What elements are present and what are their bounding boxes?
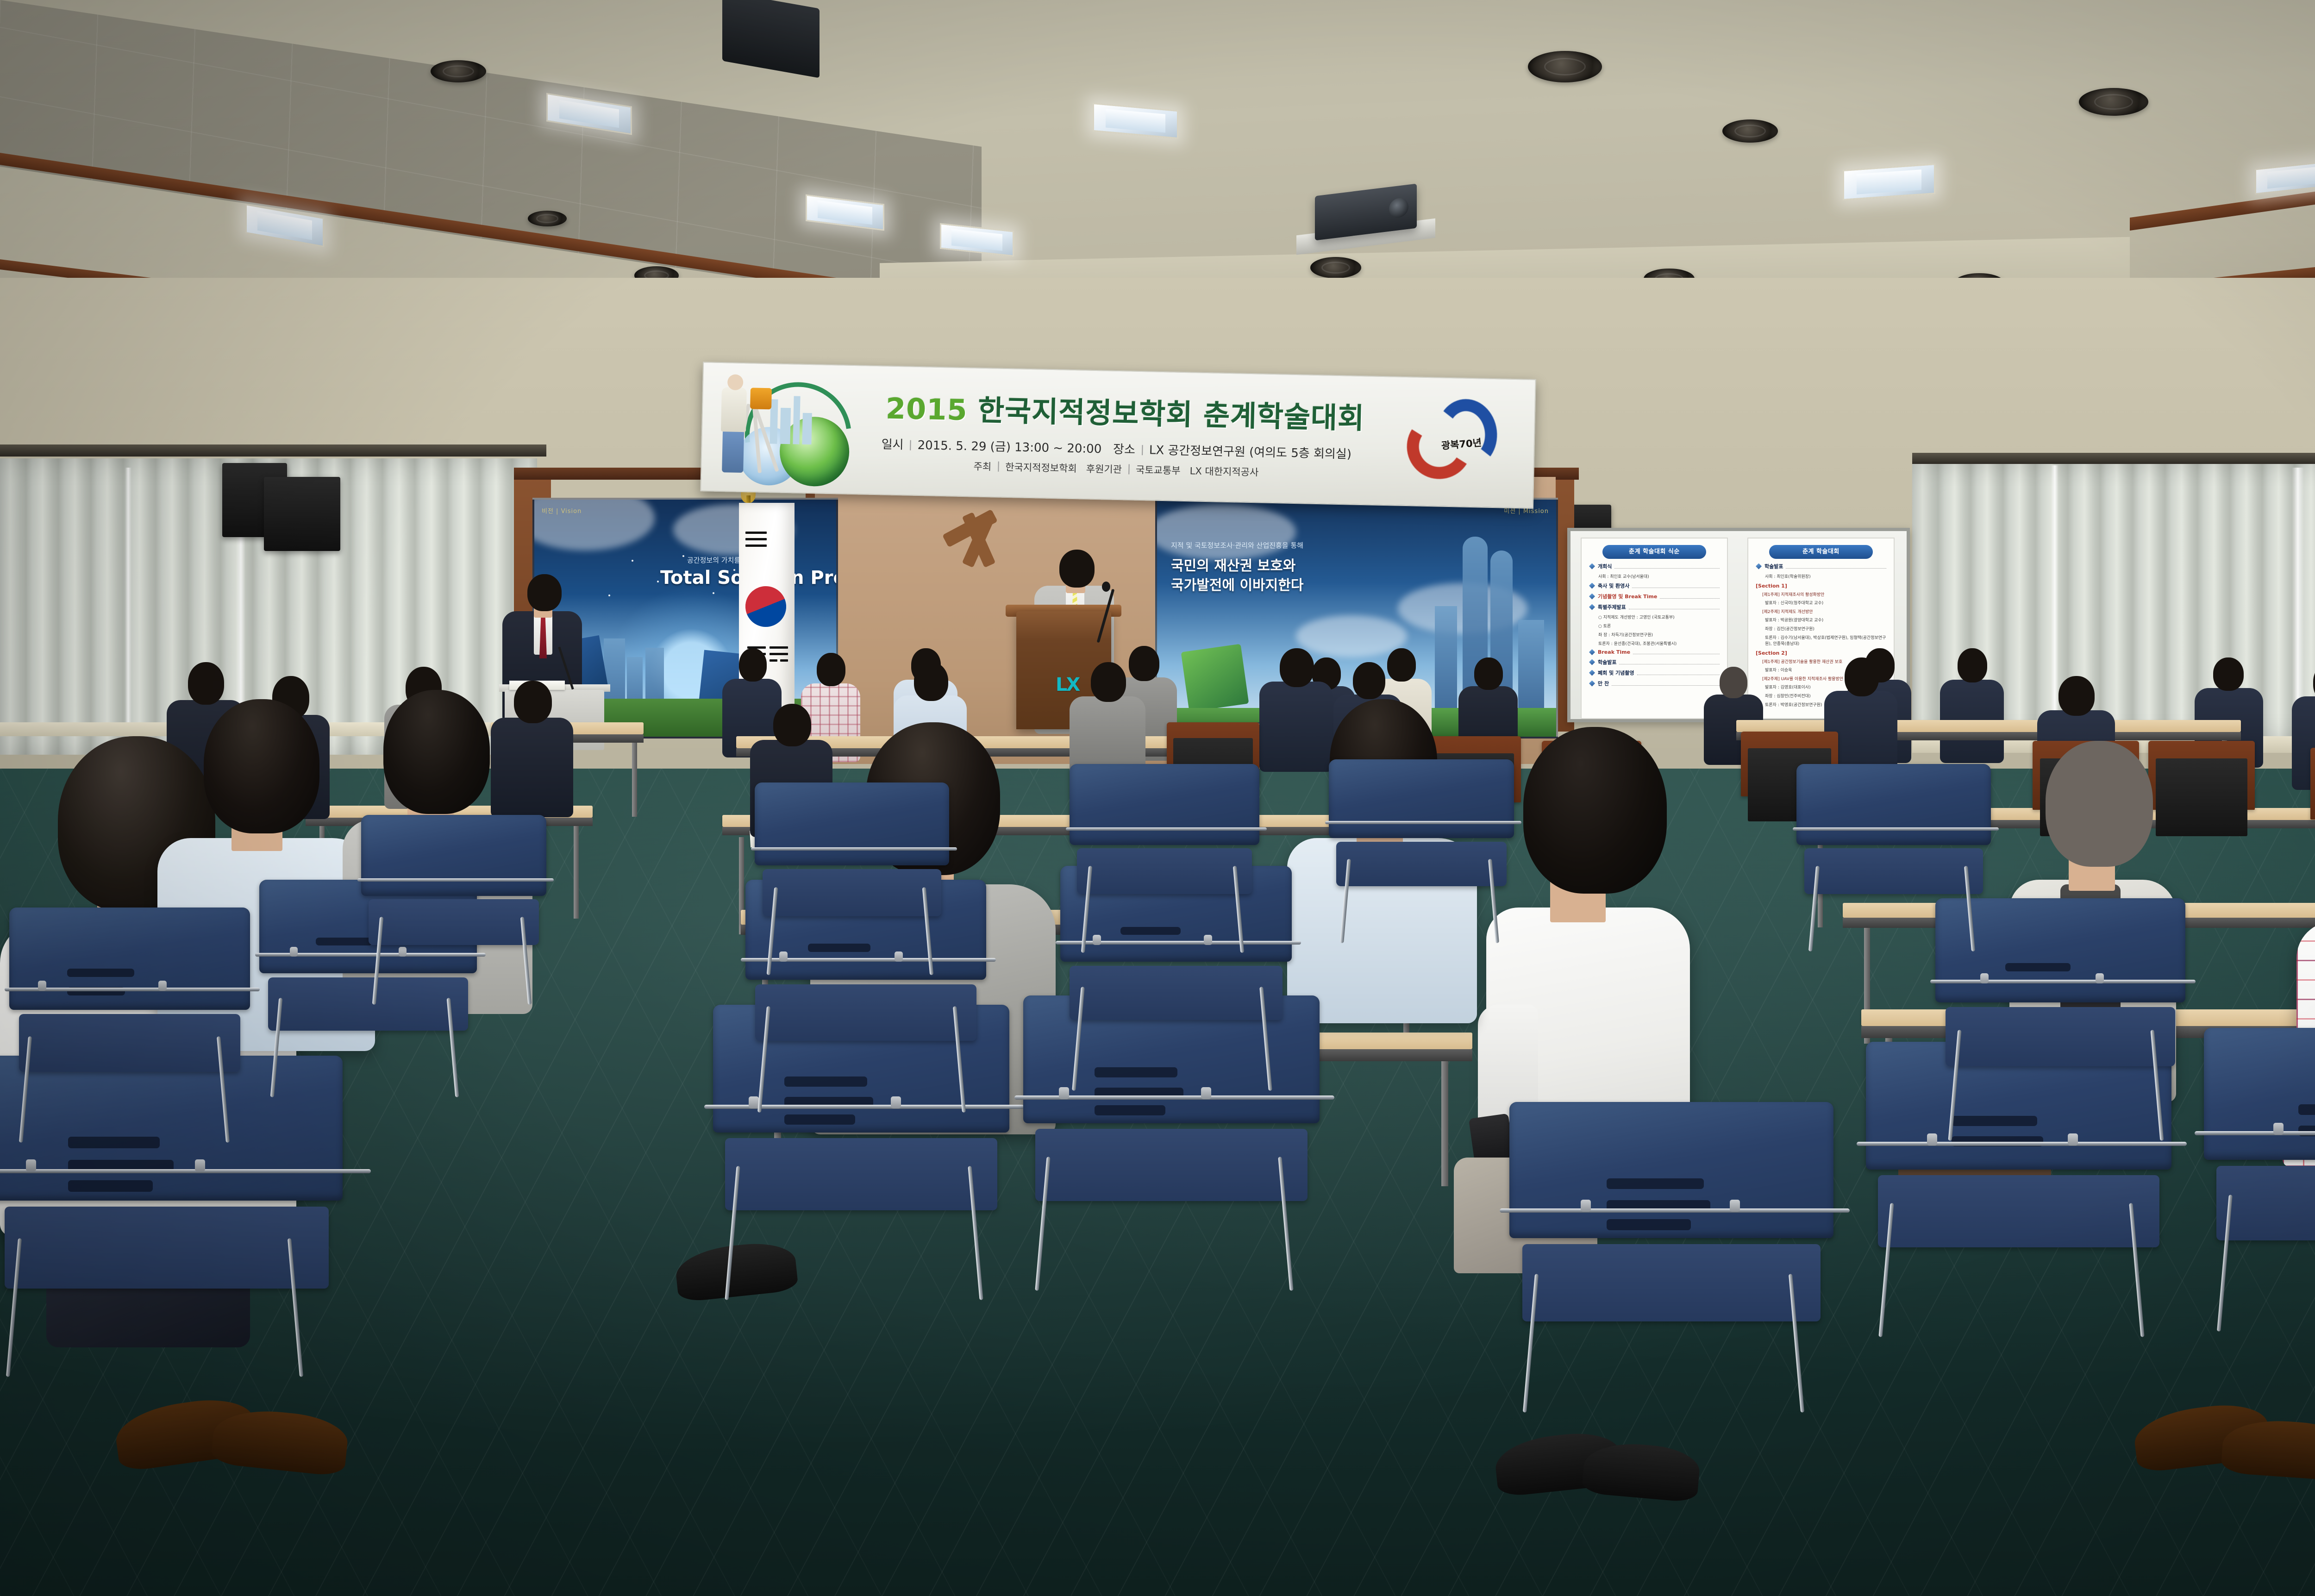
banner-liberation-emblem: 광복70년 (1395, 388, 1514, 496)
poster-item: 학술발표 (1756, 563, 1886, 570)
head (383, 690, 490, 814)
banner-date-value: 2015. 5. 29 (금) 13:00 ~ 20:00 (917, 438, 1101, 456)
banner-place-value: LX 공간정보연구원 (여의도 5층 회의실) (1149, 443, 1352, 461)
poster-topic: [제1주제] 지적재조사의 활성화방안 (1762, 591, 1886, 597)
chair[interactable] (1509, 1102, 1833, 1398)
poster-item: 기념촬영 및 Break Time (1589, 593, 1720, 600)
head (204, 699, 319, 833)
poster-note: 사회 : 최인호(학술위원장) (1765, 573, 1886, 579)
banner-sponsor-1: 국토교통부 (1136, 464, 1181, 476)
banner-place-label: 장소 (1113, 443, 1135, 457)
chair[interactable] (1070, 764, 1259, 940)
person-bullet-icon (1589, 649, 1595, 655)
chair[interactable] (361, 815, 546, 991)
chair[interactable] (9, 908, 250, 1130)
backdrop-right-line1: 국민의 재산권 보호와 (1171, 554, 1295, 575)
chair[interactable] (1796, 764, 1991, 940)
poster-item: Break Time (1589, 649, 1720, 655)
diamond-bullet-icon (1589, 670, 1595, 676)
ceiling-vent-grille (2079, 88, 2148, 116)
banner-sponsor-2: LX 대한지적공사 (1189, 465, 1258, 478)
head (1523, 727, 1667, 894)
banner-title: 2015 한국지적정보학회 춘계학술대회 (885, 385, 1345, 436)
banner-host-value: 한국지적정보학회 (1005, 462, 1077, 474)
poster-topic: [제2주제] 지적제도 개선방안 (1762, 608, 1886, 614)
poster-note: 발표자 : 신국미(청주대학교 교수) (1765, 600, 1886, 606)
taeguk-symbol (739, 580, 793, 633)
person-bullet-icon (1589, 594, 1595, 600)
banner-host-label: 주최 (973, 461, 991, 472)
chair[interactable] (755, 782, 949, 963)
poster-note: 발표자 : 박공원(광양대학교 교수) (1765, 617, 1886, 623)
poster-left-header: 춘계 학술대회 식순 (1602, 545, 1706, 559)
diamond-bullet-icon (1589, 681, 1595, 687)
poster-item: 개회식 (1589, 563, 1720, 570)
diamond-bullet-icon (1589, 604, 1595, 610)
ceiling-vent-grille (1310, 257, 1361, 278)
conference-room-photo: 비전 | Vision 공간정보의 가치를 창출하는 Total Solutio… (0, 0, 2315, 1596)
backdrop-cube-graphic (1181, 644, 1249, 712)
ceiling-vent-grille (431, 60, 486, 82)
banner-title-main: 한국지적정보학회 춘계학술대회 (977, 394, 1365, 435)
poster-note: 좌장 : 김진(공간정보연구원) (1765, 626, 1886, 632)
backdrop-left-corner-label: 비전 | Vision (542, 506, 582, 515)
poster-item: 만 찬 (1589, 680, 1720, 687)
blinds-rail-left[interactable] (0, 444, 546, 457)
poster-note: 토론자 : 김수기(남서울대), 박상호(법제연구원), 임형택(공간정보연구원… (1765, 634, 1886, 646)
poster-note: 좌 장 : 차득기(공간정보연구원) (1598, 632, 1720, 638)
banner-date-label: 일시 (881, 438, 903, 452)
banner-year: 2015 (885, 391, 968, 427)
head (2046, 741, 2153, 867)
diamond-bullet-icon (1756, 563, 1762, 570)
ceiling-vent-grille (528, 211, 567, 226)
diamond-bullet-icon (1589, 659, 1595, 665)
wall-speaker (264, 477, 340, 551)
chair[interactable] (2204, 1028, 2315, 1315)
poster-right-header: 춘계 학술대회 (1769, 545, 1873, 559)
ceiling-speaker (1528, 51, 1602, 82)
blinds-light-gap (125, 468, 131, 741)
ceiling-light (1843, 163, 1935, 200)
diamond-bullet-icon (1589, 563, 1595, 570)
banner-sponsor-label: 후원기관 (1086, 463, 1122, 476)
poster-item: 축사 및 환영사 (1589, 582, 1720, 589)
event-banner: 2015 한국지적정보학회 춘계학술대회 일시2015. 5. 29 (금) 1… (700, 362, 1536, 509)
poster-item: 학술발표 (1589, 658, 1720, 666)
lx-wall-emblem (942, 509, 1035, 579)
poster-note: ○ 지적제도 개선방안 : 고영인 (국토교통부) (1598, 614, 1720, 620)
backdrop-right-line2: 국가발전에 이바지한다 (1171, 574, 1303, 594)
chair[interactable] (1329, 759, 1514, 931)
diamond-bullet-icon (1589, 583, 1595, 589)
poster-item: 특별주제발표 (1589, 603, 1720, 611)
banner-surveyor-graphic (710, 370, 870, 488)
backdrop-right-subtitle: 지적 및 국토정보조사·관리와 산업진흥을 통해 (1171, 540, 1303, 550)
poster-note: ○ 토론 (1598, 623, 1720, 629)
blinds-rail-right[interactable] (1912, 453, 2315, 464)
ceiling-vent-grille (1722, 119, 1778, 143)
poster-note: 토론자 : 윤선종(건국대), 조봉관(서울특별시) (1598, 640, 1720, 646)
microphone-head (1102, 582, 1110, 592)
poster-item: 폐회 및 기념촬영 (1589, 669, 1720, 676)
poster-section: [Section 1] (1756, 583, 1886, 589)
poster-note: 사회 : 최인호 교수(남서울대) (1598, 573, 1720, 579)
